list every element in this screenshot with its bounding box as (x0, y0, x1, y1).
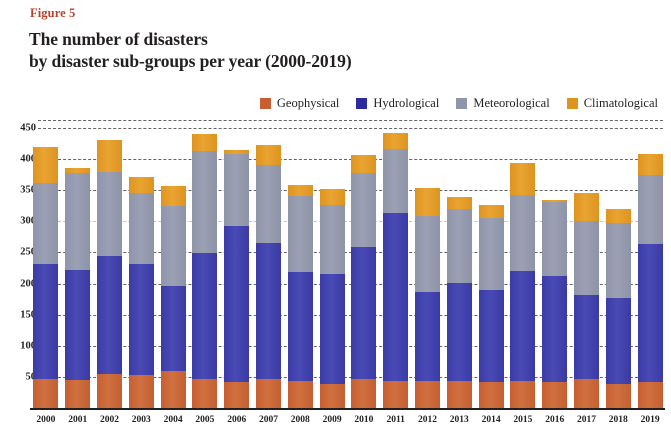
bar-segment-hydrological-2015[interactable] (510, 271, 535, 382)
bar-segment-meteorological-2019[interactable] (638, 175, 663, 243)
bar-segment-hydrological-2001[interactable] (65, 270, 90, 380)
bar-segment-climatological-2013[interactable] (447, 197, 472, 209)
bar-segment-climatological-2008[interactable] (288, 185, 313, 197)
bar-segment-hydrological-2016[interactable] (542, 276, 567, 382)
bar-segment-climatological-2005[interactable] (192, 134, 217, 151)
bar-segment-geophysical-2009[interactable] (320, 384, 345, 408)
bar-segment-hydrological-2011[interactable] (383, 213, 408, 382)
bar-segment-geophysical-2005[interactable] (192, 379, 217, 408)
bar-segment-hydrological-2019[interactable] (638, 244, 663, 382)
bar-segment-climatological-2006[interactable] (224, 150, 249, 154)
x-tick-label: 2008 (282, 415, 318, 425)
x-tick-label: 2009 (314, 415, 350, 425)
bar-segment-geophysical-2019[interactable] (638, 382, 663, 408)
bar-segment-hydrological-2012[interactable] (415, 292, 440, 381)
bar-segment-climatological-2017[interactable] (574, 193, 599, 220)
x-tick-label: 2007 (251, 415, 287, 425)
bar-segment-geophysical-2012[interactable] (415, 381, 440, 408)
x-axis-labels: 2000200120022003200420052006200720082009… (30, 412, 666, 432)
bar-segment-climatological-2007[interactable] (256, 145, 281, 165)
bar-segment-meteorological-2002[interactable] (97, 172, 122, 256)
bar-segment-hydrological-2007[interactable] (256, 243, 281, 379)
bar-segment-geophysical-2007[interactable] (256, 379, 281, 408)
bar-segment-geophysical-2006[interactable] (224, 382, 249, 408)
bar-segment-meteorological-2009[interactable] (320, 205, 345, 274)
bar-segment-hydrological-2004[interactable] (161, 286, 186, 371)
bar-segment-geophysical-2013[interactable] (447, 381, 472, 408)
bar-segment-meteorological-2015[interactable] (510, 195, 535, 270)
x-tick-label: 2015 (505, 415, 541, 425)
bar-segment-geophysical-2003[interactable] (129, 375, 154, 408)
bar-segment-meteorological-2006[interactable] (224, 154, 249, 226)
x-axis-baseline (30, 408, 665, 410)
x-tick-label: 2014 (473, 415, 509, 425)
bar-segment-climatological-2016[interactable] (542, 200, 567, 202)
bar-segment-meteorological-2003[interactable] (129, 193, 154, 264)
bar-segment-hydrological-2009[interactable] (320, 274, 345, 384)
bar-segment-hydrological-2010[interactable] (351, 247, 376, 379)
bar-segment-hydrological-2002[interactable] (97, 256, 122, 374)
bar-segment-meteorological-2018[interactable] (606, 223, 631, 298)
bar-segment-climatological-2019[interactable] (638, 154, 663, 176)
bar-segment-meteorological-2008[interactable] (288, 196, 313, 271)
bar-segment-climatological-2003[interactable] (129, 177, 154, 193)
bar-segment-climatological-2004[interactable] (161, 186, 186, 207)
x-tick-label: 2001 (60, 415, 96, 425)
bar-segment-hydrological-2003[interactable] (129, 264, 154, 375)
bar-segment-geophysical-2016[interactable] (542, 382, 567, 408)
x-tick-label: 2010 (346, 415, 382, 425)
x-tick-label: 2004 (155, 415, 191, 425)
bar-segment-meteorological-2012[interactable] (415, 216, 440, 292)
bar-segment-hydrological-2006[interactable] (224, 226, 249, 382)
x-tick-label: 2003 (123, 415, 159, 425)
x-tick-label: 2018 (600, 415, 636, 425)
bar-segment-hydrological-2017[interactable] (574, 295, 599, 379)
bar-segment-climatological-2012[interactable] (415, 188, 440, 217)
bar-segment-hydrological-2005[interactable] (192, 253, 217, 379)
bar-segment-hydrological-2008[interactable] (288, 272, 313, 382)
bar-segment-climatological-2001[interactable] (65, 168, 90, 174)
bar-segment-meteorological-2000[interactable] (33, 183, 58, 265)
bar-segment-hydrological-2013[interactable] (447, 283, 472, 381)
bar-segment-meteorological-2010[interactable] (351, 173, 376, 247)
bar-segment-climatological-2018[interactable] (606, 209, 631, 223)
bar-segment-geophysical-2008[interactable] (288, 381, 313, 408)
x-tick-label: 2011 (378, 415, 414, 425)
bar-segment-geophysical-2011[interactable] (383, 381, 408, 408)
x-tick-label: 2005 (187, 415, 223, 425)
bar-segment-meteorological-2011[interactable] (383, 149, 408, 212)
bar-segment-meteorological-2005[interactable] (192, 151, 217, 253)
bar-segment-meteorological-2001[interactable] (65, 173, 90, 269)
x-tick-label: 2000 (28, 415, 64, 425)
x-tick-label: 2006 (219, 415, 255, 425)
bar-segment-meteorological-2017[interactable] (574, 221, 599, 296)
x-tick-label: 2016 (537, 415, 573, 425)
x-tick-label: 2012 (410, 415, 446, 425)
bar-segment-geophysical-2015[interactable] (510, 381, 535, 408)
bar-segment-hydrological-2014[interactable] (479, 290, 504, 382)
bar-segment-geophysical-2004[interactable] (161, 371, 186, 408)
chart-plot-area: 45040035030025020015010050 2000200120022… (0, 0, 671, 435)
bar-segment-geophysical-2002[interactable] (97, 374, 122, 408)
bar-segment-meteorological-2004[interactable] (161, 206, 186, 286)
bar-segment-geophysical-2001[interactable] (65, 380, 90, 408)
bar-segment-meteorological-2014[interactable] (479, 218, 504, 290)
x-tick-label: 2002 (92, 415, 128, 425)
bar-segment-geophysical-2018[interactable] (606, 384, 631, 408)
bar-segment-hydrological-2018[interactable] (606, 298, 631, 384)
bar-segment-geophysical-2010[interactable] (351, 379, 376, 408)
bar-segment-climatological-2014[interactable] (479, 205, 504, 217)
bar-segment-climatological-2000[interactable] (33, 147, 58, 183)
bar-segment-geophysical-2017[interactable] (574, 379, 599, 408)
bar-segment-geophysical-2014[interactable] (479, 382, 504, 408)
bar-segment-climatological-2009[interactable] (320, 189, 345, 205)
x-tick-label: 2013 (441, 415, 477, 425)
bar-segment-meteorological-2016[interactable] (542, 202, 567, 276)
bar-segment-meteorological-2013[interactable] (447, 209, 472, 283)
bar-segment-climatological-2011[interactable] (383, 133, 408, 149)
bar-segment-climatological-2015[interactable] (510, 163, 535, 195)
bar-segment-climatological-2010[interactable] (351, 155, 376, 173)
bar-segment-geophysical-2000[interactable] (33, 379, 58, 408)
bar-segment-climatological-2002[interactable] (97, 140, 122, 171)
bar-segment-hydrological-2000[interactable] (33, 264, 58, 379)
bar-series-container (30, 120, 666, 408)
x-tick-label: 2017 (569, 415, 605, 425)
bar-segment-meteorological-2007[interactable] (256, 165, 281, 243)
x-tick-label: 2019 (632, 415, 668, 425)
